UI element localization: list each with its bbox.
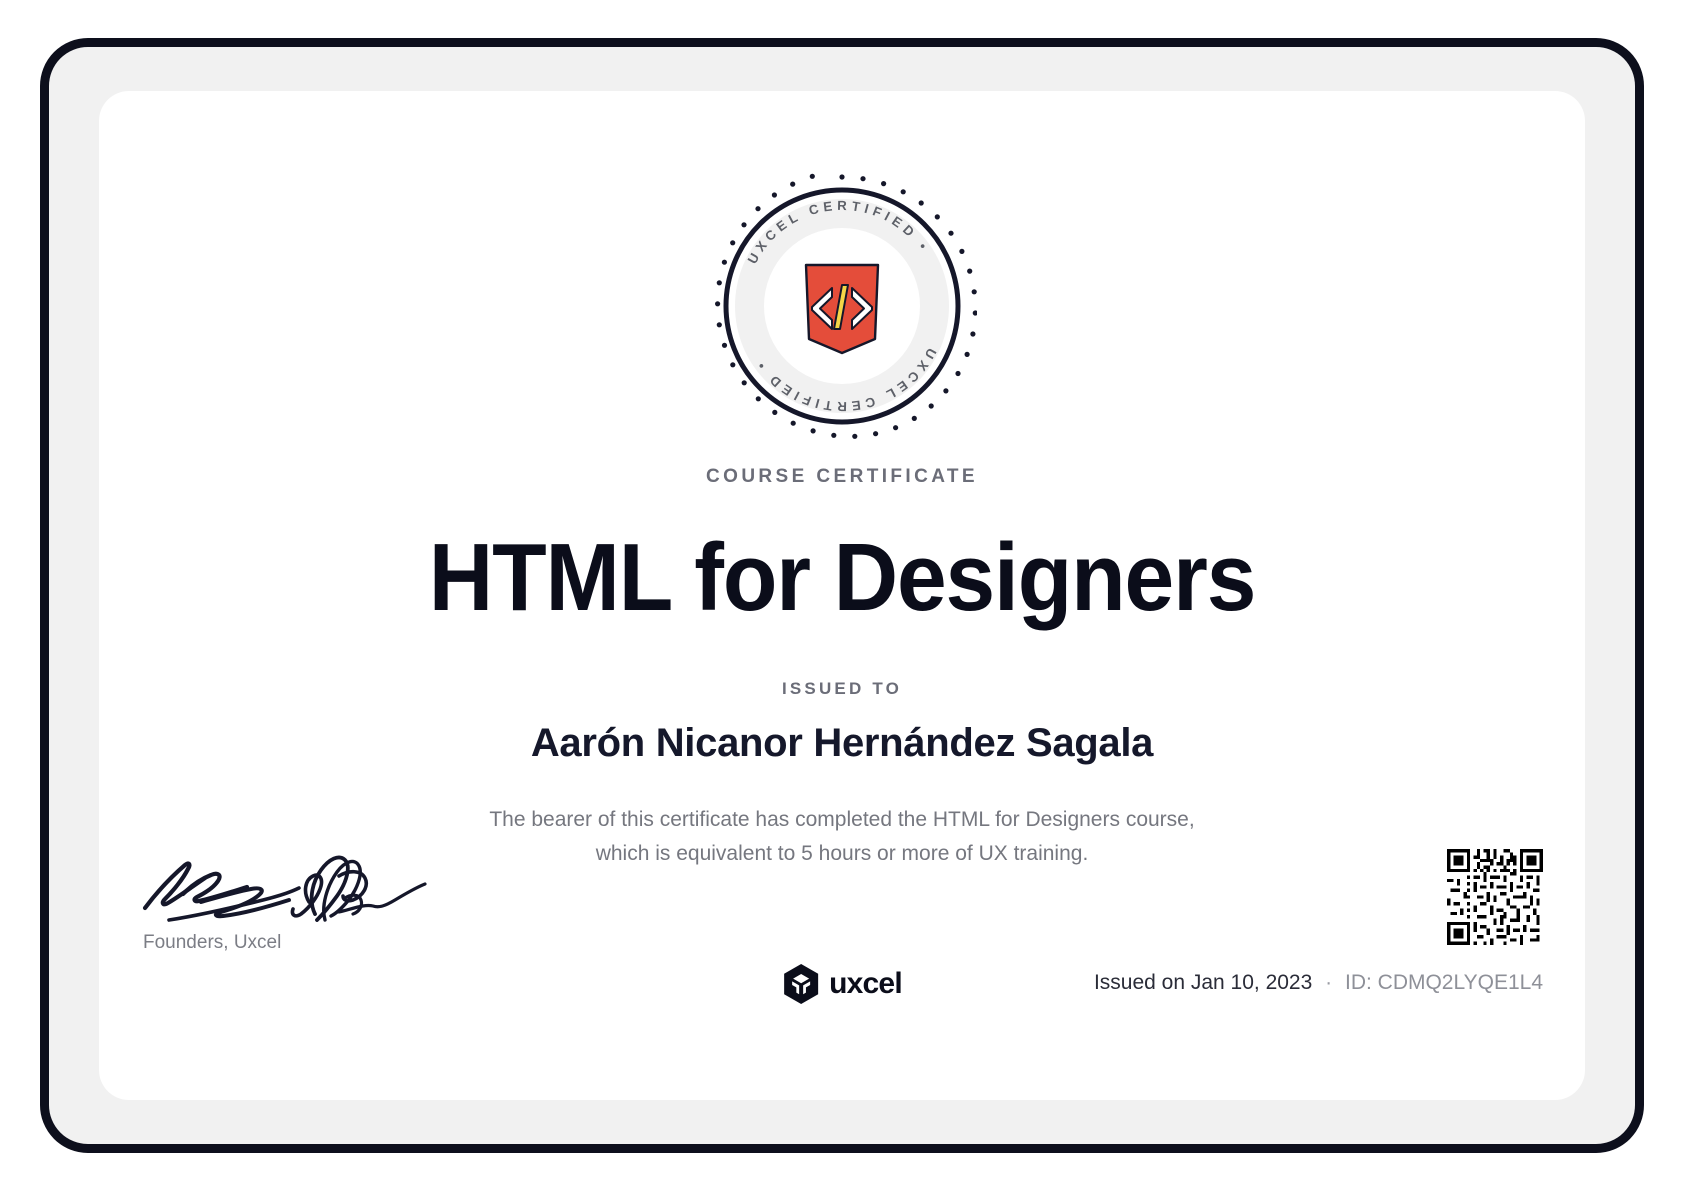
issued-to-label: ISSUED TO: [99, 679, 1585, 699]
verification-qr-code[interactable]: [1447, 849, 1543, 945]
founders-caption: Founders, Uxcel: [143, 932, 469, 954]
uxcel-brand-logo: uxcel: [782, 963, 902, 1005]
certificate-id: ID: CDMQ2LYQE1L4: [1345, 971, 1543, 994]
description-line-1: The bearer of this certificate has compl…: [99, 803, 1585, 837]
signature-block: Founders, Uxcel: [139, 836, 469, 954]
course-certificate-label: COURSE CERTIFICATE: [99, 466, 1585, 488]
html5-shield-icon: [806, 265, 878, 353]
uxcel-certified-seal: UXCEL CERTIFIED • UXCEL CERTIFIED •: [707, 171, 977, 441]
uxcel-wordmark: uxcel: [829, 967, 902, 1001]
certificate-frame: UXCEL CERTIFIED • UXCEL CERTIFIED • COUR…: [40, 38, 1644, 1153]
issue-metadata: Issued on Jan 10, 2023 · ID: CDMQ2LYQE1L…: [1094, 971, 1543, 995]
meta-separator: ·: [1318, 971, 1339, 994]
uxcel-hexagon-cube-icon: [782, 963, 820, 1005]
page-title: HTML for Designers: [151, 526, 1533, 630]
issued-on-date: Issued on Jan 10, 2023: [1094, 971, 1312, 994]
certificate-card: UXCEL CERTIFIED • UXCEL CERTIFIED • COUR…: [99, 91, 1585, 1100]
recipient-name: Aarón Nicanor Hernández Sagala: [99, 717, 1585, 769]
founders-signature-image: [139, 836, 439, 922]
